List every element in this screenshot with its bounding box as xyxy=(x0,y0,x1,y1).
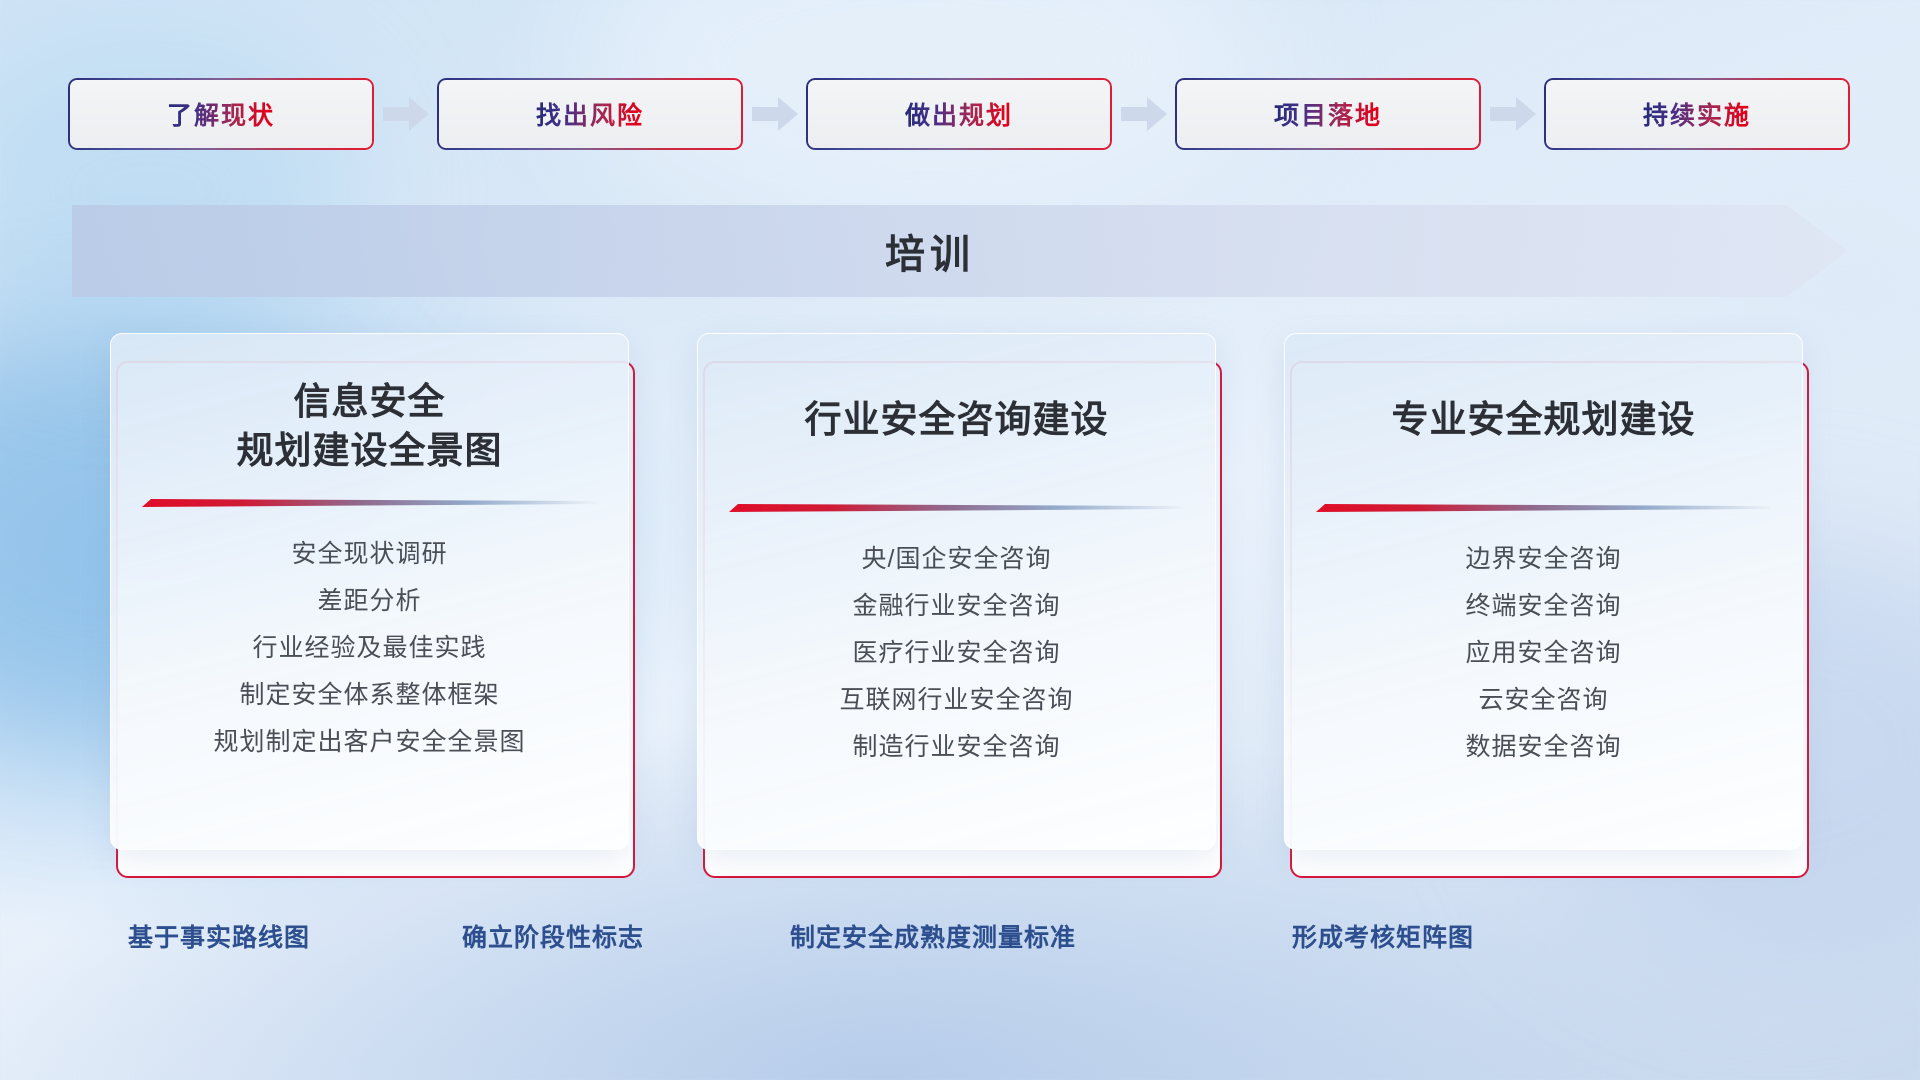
list-item: 云安全咨询 xyxy=(1478,677,1608,724)
caption-1: 确立阶段性标志 xyxy=(462,918,644,954)
list-item: 央/国企安全咨询 xyxy=(862,536,1052,583)
list-item: 医疗行业安全咨询 xyxy=(852,630,1060,677)
list-item: 应用安全咨询 xyxy=(1465,630,1621,677)
training-band: 培训 xyxy=(72,205,1848,297)
list-item: 互联网行业安全咨询 xyxy=(839,677,1073,724)
arrow-right-icon xyxy=(374,78,437,150)
card-surface: 行业安全咨询建设 央/国企安全咨询 xyxy=(697,333,1216,850)
step-label: 了解现状 xyxy=(167,96,275,132)
card-item-list: 边界安全咨询 终端安全咨询 应用安全咨询 云安全咨询 数据安全咨询 xyxy=(1285,536,1802,771)
list-item: 终端安全咨询 xyxy=(1465,583,1621,630)
card-0[interactable]: 信息安全 规划建设全景图 安全现状调研 xyxy=(110,333,635,878)
arrow-right-icon xyxy=(1112,78,1175,150)
step-flow: 了解现状 找出风险 做出规划 项目落地 持续实施 xyxy=(68,78,1852,150)
step-label: 做出规划 xyxy=(905,96,1013,132)
card-divider xyxy=(1316,501,1771,514)
card-row: 信息安全 规划建设全景图 安全现状调研 xyxy=(110,333,1810,878)
list-item: 行业经验及最佳实践 xyxy=(252,625,486,672)
list-item: 规划制定出客户安全全景图 xyxy=(213,719,525,766)
card-divider xyxy=(729,501,1184,514)
arrow-right-icon xyxy=(1481,78,1544,150)
band-title: 培训 xyxy=(72,205,1848,297)
card-title: 专业安全规划建设 xyxy=(1392,396,1696,445)
list-item: 边界安全咨询 xyxy=(1465,536,1621,583)
caption-row: 基于事实路线图 确立阶段性标志 制定安全成熟度测量标准 形成考核矩阵图 xyxy=(0,918,1920,966)
step-item-1[interactable]: 找出风险 xyxy=(437,78,743,150)
step-label: 找出风险 xyxy=(536,96,644,132)
card-surface: 信息安全 规划建设全景图 安全现状调研 xyxy=(110,333,629,850)
list-item: 金融行业安全咨询 xyxy=(852,583,1060,630)
step-item-0[interactable]: 了解现状 xyxy=(68,78,374,150)
card-1[interactable]: 行业安全咨询建设 央/国企安全咨询 xyxy=(697,333,1222,878)
card-item-list: 安全现状调研 差距分析 行业经验及最佳实践 制定安全体系整体框架 规划制定出客户… xyxy=(111,531,628,766)
step-label: 持续实施 xyxy=(1643,96,1751,132)
caption-0: 基于事实路线图 xyxy=(128,918,310,954)
list-item: 数据安全咨询 xyxy=(1465,724,1621,771)
card-item-list: 央/国企安全咨询 金融行业安全咨询 医疗行业安全咨询 互联网行业安全咨询 制造行… xyxy=(698,536,1215,771)
card-title: 信息安全 规划建设全景图 xyxy=(237,378,503,476)
list-item: 制定安全体系整体框架 xyxy=(239,672,499,719)
step-item-2[interactable]: 做出规划 xyxy=(806,78,1112,150)
list-item: 制造行业安全咨询 xyxy=(852,724,1060,771)
arrow-right-icon xyxy=(743,78,806,150)
step-item-4[interactable]: 持续实施 xyxy=(1544,78,1850,150)
step-item-3[interactable]: 项目落地 xyxy=(1175,78,1481,150)
caption-3: 形成考核矩阵图 xyxy=(1292,918,1474,954)
card-title: 行业安全咨询建设 xyxy=(805,396,1109,445)
step-label: 项目落地 xyxy=(1274,96,1382,132)
list-item: 安全现状调研 xyxy=(291,531,447,578)
list-item: 差距分析 xyxy=(317,578,421,625)
card-surface: 专业安全规划建设 边界安全咨询 xyxy=(1284,333,1803,850)
card-divider xyxy=(142,496,597,509)
caption-2: 制定安全成熟度测量标准 xyxy=(790,918,1076,954)
card-2[interactable]: 专业安全规划建设 边界安全咨询 xyxy=(1284,333,1809,878)
